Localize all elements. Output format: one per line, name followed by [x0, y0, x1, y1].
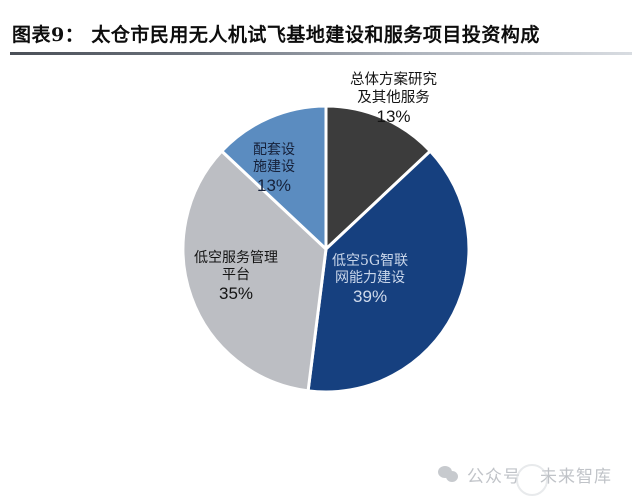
- pie-label-overall-research: 总体方案研究 及其他服务 13%: [350, 72, 437, 128]
- pie-label-supporting-facility-line2: 施建设: [253, 159, 295, 176]
- watermark-stamp-icon: [516, 464, 548, 496]
- pie-label-overall-research-line1: 总体方案研究: [350, 72, 437, 90]
- pie-label-supporting-facility-line1: 配套设: [253, 142, 295, 159]
- pie-value-supporting-facility: 13%: [253, 176, 295, 197]
- pie-graphic: [181, 104, 471, 394]
- pie-chart: 总体方案研究 及其他服务 13% 低空5G智联 网能力建设 39% 低空服务管理…: [0, 60, 640, 446]
- pie-label-5g-network: 低空5G智联 网能力建设 39%: [332, 253, 408, 308]
- pie-label-supporting-facility: 配套设 施建设 13%: [253, 142, 295, 197]
- pie-label-5g-network-line1: 低空5G智联: [332, 253, 408, 270]
- pie-label-service-platform-line2: 平台: [194, 267, 278, 284]
- pie-label-service-platform-line1: 低空服务管理: [194, 250, 278, 267]
- pie-svg: [181, 104, 471, 394]
- page-title: 图表9： 太仓市民用无人机试飞基地建设和服务项目投资构成: [12, 20, 540, 47]
- wechat-icon: [438, 465, 460, 484]
- watermark-brand: 未来智库: [540, 462, 612, 487]
- pie-value-service-platform: 35%: [194, 284, 278, 305]
- title-divider: [10, 52, 632, 55]
- pie-slice-group: [183, 106, 469, 392]
- watermark-prefix: 公众号: [467, 462, 521, 487]
- figure-header: 图表9： 太仓市民用无人机试飞基地建设和服务项目投资构成: [0, 0, 640, 60]
- pie-label-5g-network-line2: 网能力建设: [332, 270, 408, 287]
- pie-value-overall-research: 13%: [350, 107, 437, 128]
- pie-value-5g-network: 39%: [332, 287, 408, 308]
- pie-label-service-platform: 低空服务管理 平台 35%: [194, 250, 278, 305]
- pie-label-overall-research-line2: 及其他服务: [350, 90, 437, 108]
